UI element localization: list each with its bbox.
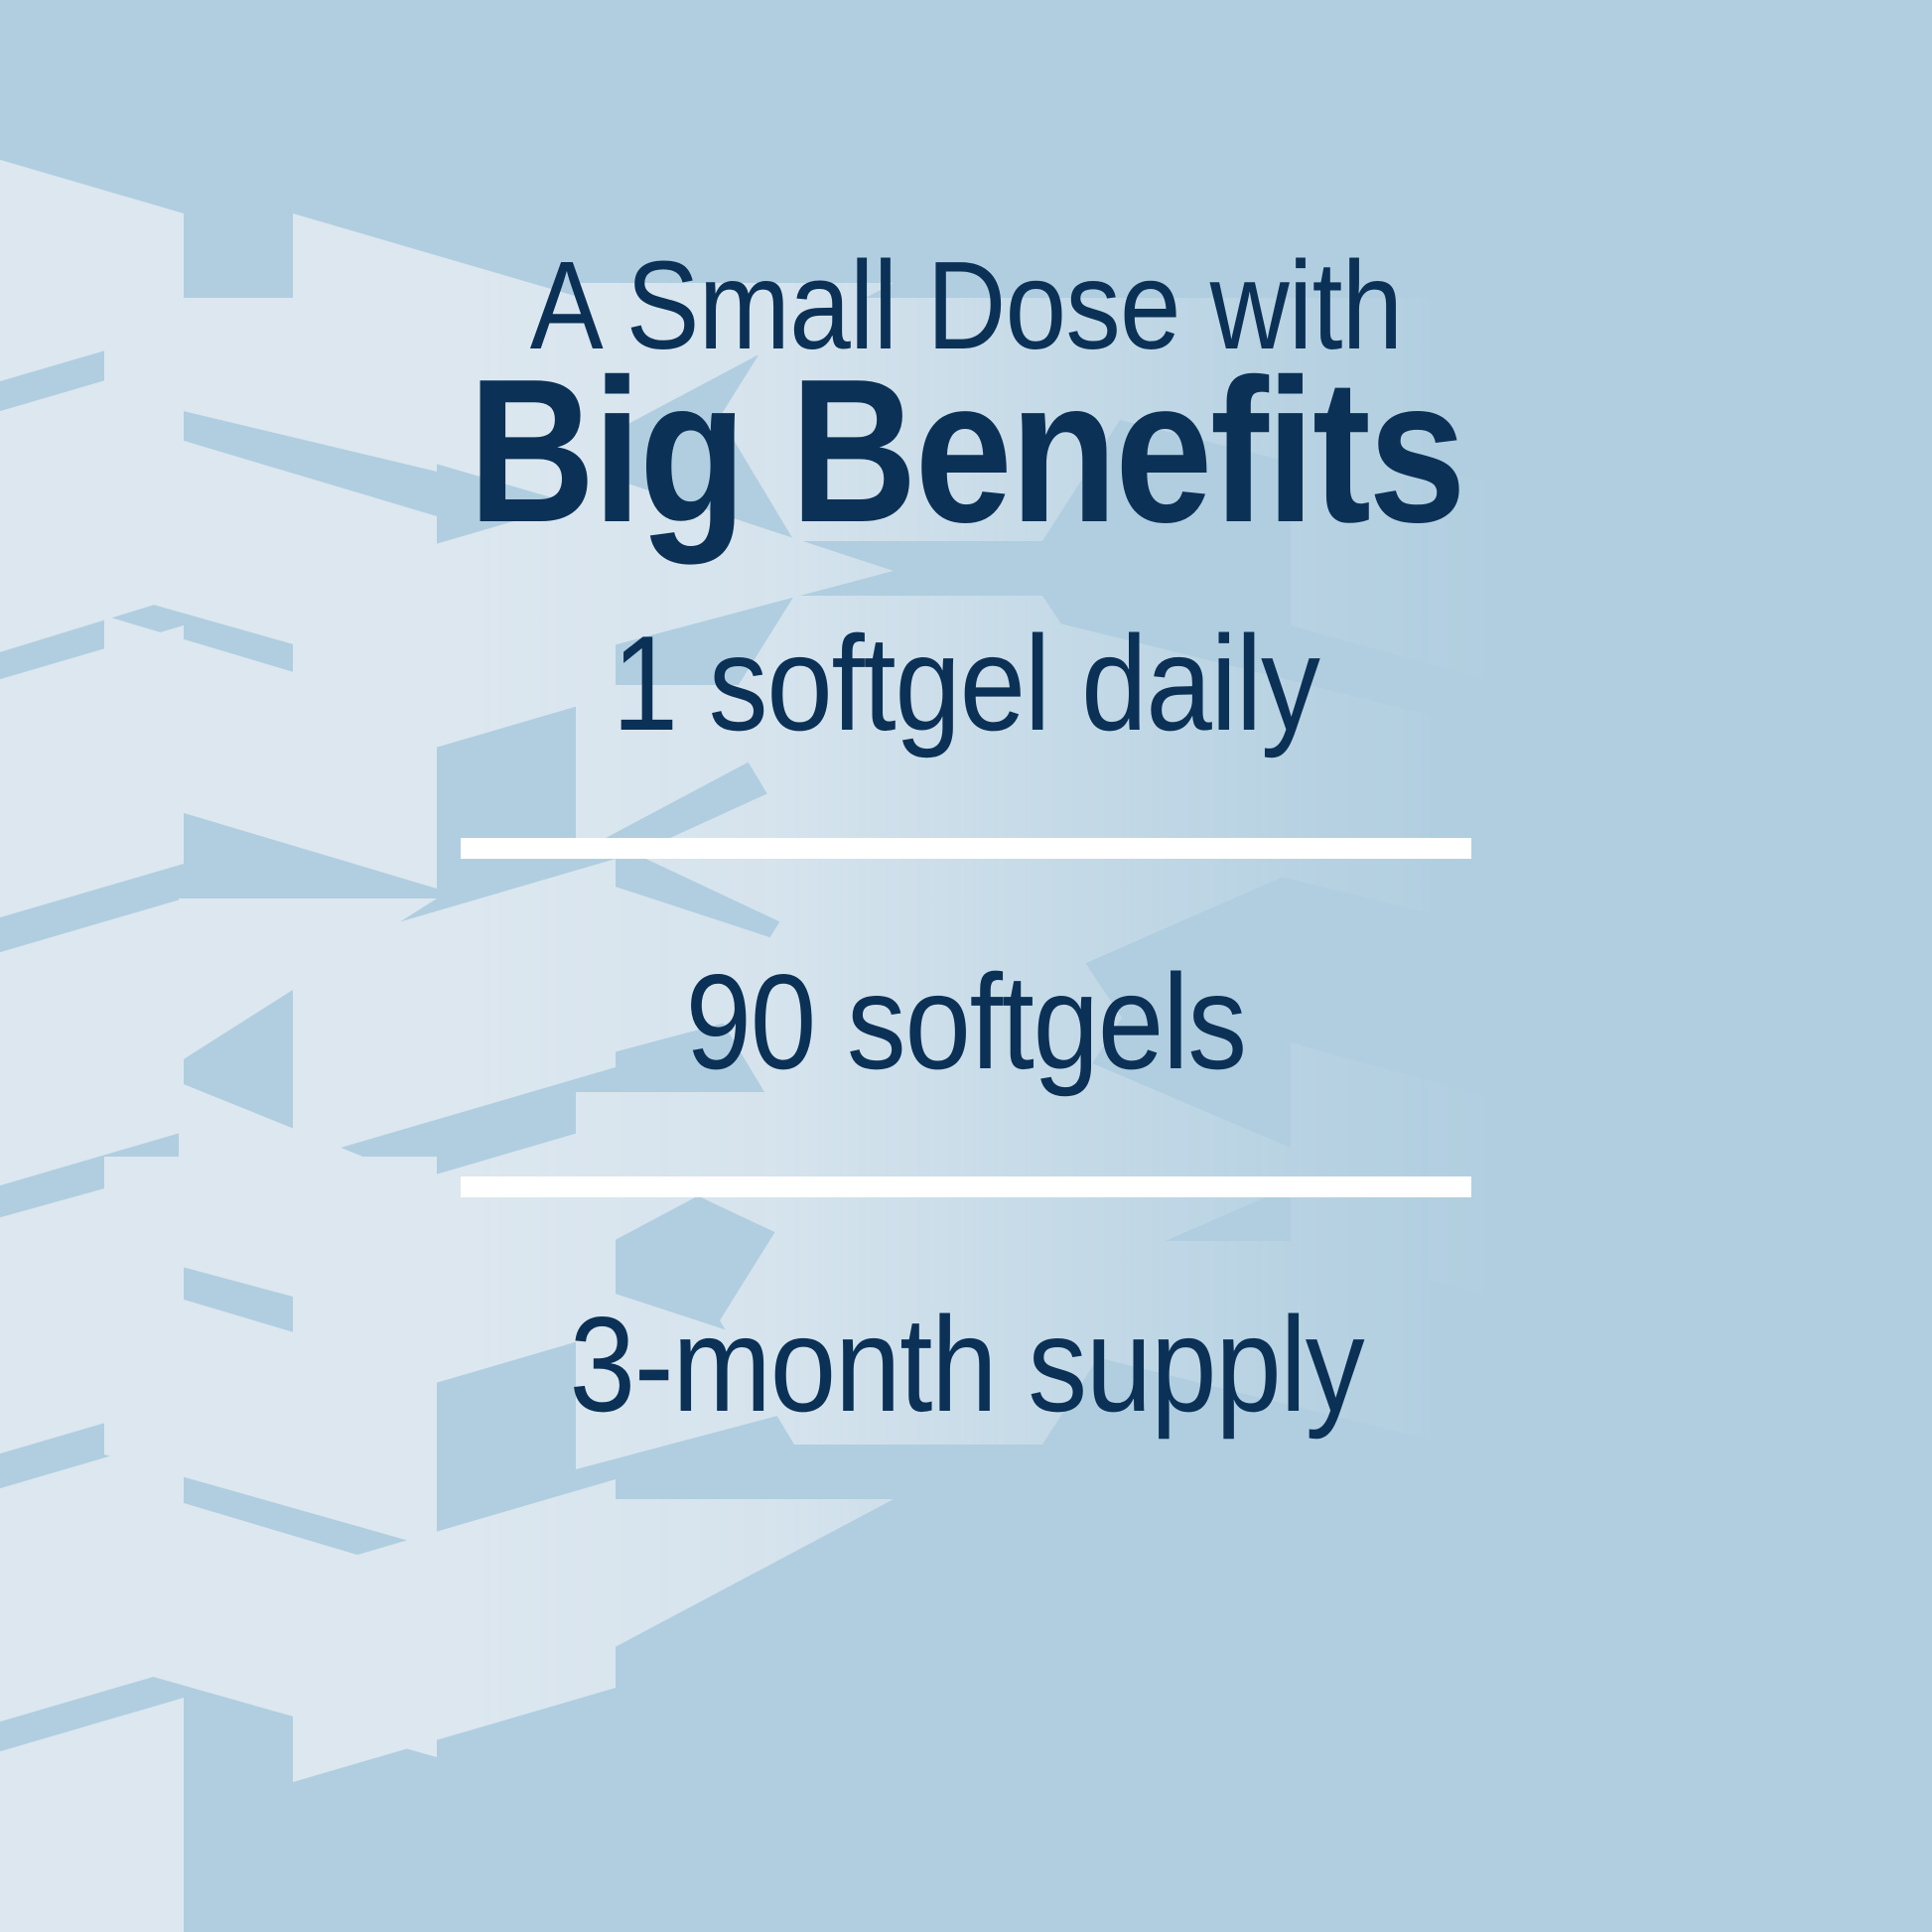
promo-graphic: A Small Dose with Big Benefits 1 softgel…	[0, 0, 1932, 1932]
fact-row-2: 90 softgels	[0, 954, 1932, 1089]
spacer-4	[0, 1197, 1932, 1297]
fact-label-count: 90 softgels	[686, 954, 1246, 1089]
headline-block: A Small Dose with Big Benefits	[0, 246, 1932, 549]
facts-list: 1 softgel daily 90 softgels 3-month supp…	[0, 616, 1932, 1432]
fact-label-dose: 1 softgel daily	[613, 616, 1319, 751]
fact-row-3: 3-month supply	[0, 1297, 1932, 1432]
spacer-3	[0, 1089, 1932, 1176]
fact-row-1: 1 softgel daily	[0, 616, 1932, 751]
content-layer: A Small Dose with Big Benefits 1 softgel…	[0, 0, 1932, 1932]
divider-wrap-1	[0, 838, 1932, 859]
headline-line-2: Big Benefits	[135, 354, 1797, 549]
divider-1	[461, 838, 1471, 859]
divider-wrap-2	[0, 1176, 1932, 1197]
spacer-1	[0, 751, 1932, 838]
spacer-2	[0, 859, 1932, 954]
divider-2	[461, 1176, 1471, 1197]
fact-label-supply: 3-month supply	[569, 1297, 1363, 1432]
